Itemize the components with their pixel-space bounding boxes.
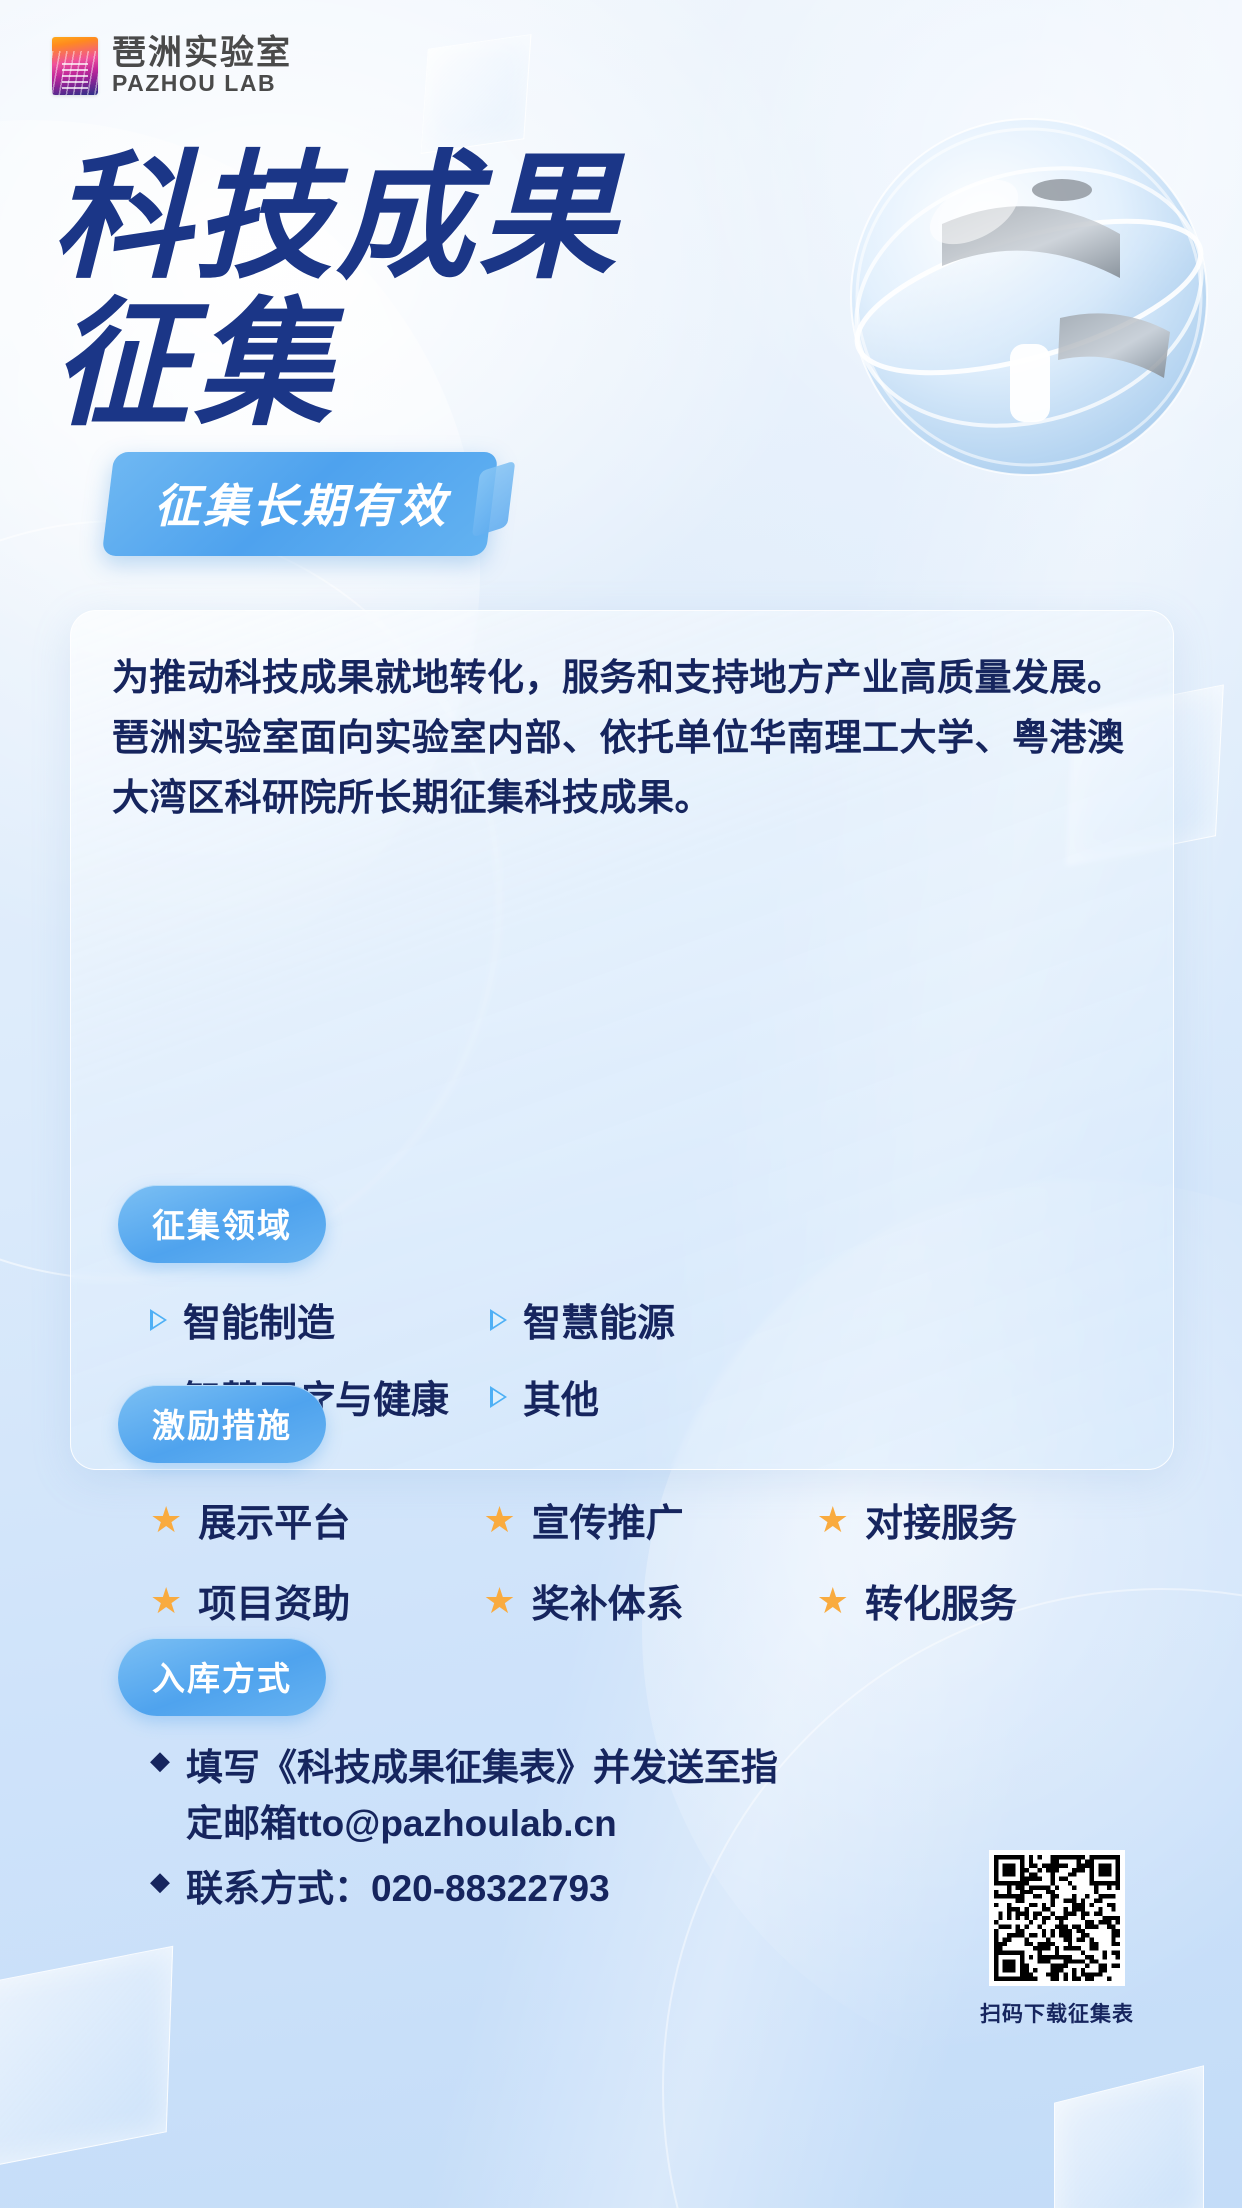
list-item-label: 智慧能源	[523, 1292, 675, 1347]
list-item: ★ 转化服务	[817, 1573, 1150, 1628]
list-item-label: 填写《科技成果征集表》并发送至指定邮箱tto@pazhoulab.cn	[186, 1740, 810, 1851]
triangle-outline-icon	[490, 1386, 507, 1408]
section-label-fields: 征集领域	[118, 1185, 326, 1263]
glass-cube-icon	[420, 34, 531, 154]
glass-cube-icon	[1054, 2065, 1204, 2208]
hero-badge-label: 征集长期有效	[154, 470, 448, 536]
list-item-label: 对接服务	[865, 1492, 1017, 1547]
star-icon: ★	[483, 1583, 515, 1619]
list-item: 智能制造	[150, 1292, 490, 1347]
star-icon: ★	[817, 1583, 849, 1619]
star-icon: ★	[483, 1502, 515, 1538]
brand-logo-text: 琶洲实验室 PAZHOU LAB	[112, 36, 292, 96]
section-label-incentives-text: 激励措施	[152, 1407, 292, 1444]
list-item: ★ 对接服务	[817, 1492, 1150, 1547]
star-icon: ★	[150, 1502, 182, 1538]
section-label-fields-text: 征集领域	[152, 1207, 292, 1244]
glass-sphere-graphic	[824, 92, 1234, 502]
intro-paragraph: 为推动科技成果就地转化，服务和支持地方产业高质量发展。琶洲实验室面向实验室内部、…	[112, 648, 1132, 828]
page-title-line-1: 科技成果	[52, 141, 620, 295]
brand-name-cn: 琶洲实验室	[112, 36, 292, 71]
list-item: ★ 宣传推广	[483, 1492, 816, 1547]
list-item-label: 项目资助	[198, 1573, 350, 1628]
list-item: ★ 展示平台	[150, 1492, 483, 1547]
bg-blob-top-center	[621, 0, 1242, 560]
list-item-label: 转化服务	[865, 1573, 1017, 1628]
triangle-outline-icon	[490, 1309, 507, 1331]
pazhou-gradient-mark-icon	[52, 37, 98, 95]
list-item: ★ 奖补体系	[483, 1573, 816, 1628]
qr-caption: 扫码下载征集表	[980, 1998, 1134, 2028]
list-item-label: 奖补体系	[532, 1573, 684, 1628]
list-item-label: 宣传推广	[532, 1492, 684, 1547]
section-label-incentives: 激励措施	[118, 1385, 326, 1463]
list-item: ★ 项目资助	[150, 1573, 483, 1628]
diamond-bullet-icon: ◆	[150, 1740, 170, 1851]
star-icon: ★	[150, 1583, 182, 1619]
list-item: ◆ 联系方式：020-88322793	[150, 1861, 810, 1917]
brand-name-en: PAZHOU LAB	[112, 71, 292, 96]
list-item-label: 联系方式：020-88322793	[186, 1861, 610, 1917]
list-item-label: 其他	[523, 1369, 599, 1424]
triangle-outline-icon	[150, 1309, 167, 1331]
list-item-label: 展示平台	[198, 1492, 350, 1547]
list-item: 其他	[490, 1369, 830, 1424]
star-icon: ★	[817, 1502, 849, 1538]
incentives-list: ★ 展示平台 ★ 宣传推广 ★ 对接服务 ★ 项目资助 ★ 奖补体系 ★ 转化服…	[150, 1492, 1150, 1628]
qr-code-icon[interactable]	[989, 1850, 1125, 1986]
section-label-entry: 入库方式	[118, 1638, 326, 1716]
hero-badge: 征集长期有效	[102, 452, 499, 556]
brand-logo: 琶洲实验室 PAZHOU LAB	[52, 36, 292, 96]
glass-cube-icon	[0, 1946, 173, 2174]
page-title: 科技成果 征集	[52, 148, 620, 436]
list-item: ◆ 填写《科技成果征集表》并发送至指定邮箱tto@pazhoulab.cn	[150, 1740, 810, 1851]
poster-root: 琶洲实验室 PAZHOU LAB 科技成果 征集 征集长期有效 为推动科技成果就…	[0, 0, 1242, 2208]
list-item: 智慧能源	[490, 1292, 830, 1347]
entry-list: ◆ 填写《科技成果征集表》并发送至指定邮箱tto@pazhoulab.cn ◆ …	[150, 1740, 810, 1927]
diamond-bullet-icon: ◆	[150, 1861, 170, 1917]
page-title-line-2: 征集	[52, 295, 620, 436]
qr-block: 扫码下载征集表	[980, 1850, 1134, 2028]
section-label-entry-text: 入库方式	[152, 1660, 292, 1697]
list-item-label: 智能制造	[183, 1292, 335, 1347]
